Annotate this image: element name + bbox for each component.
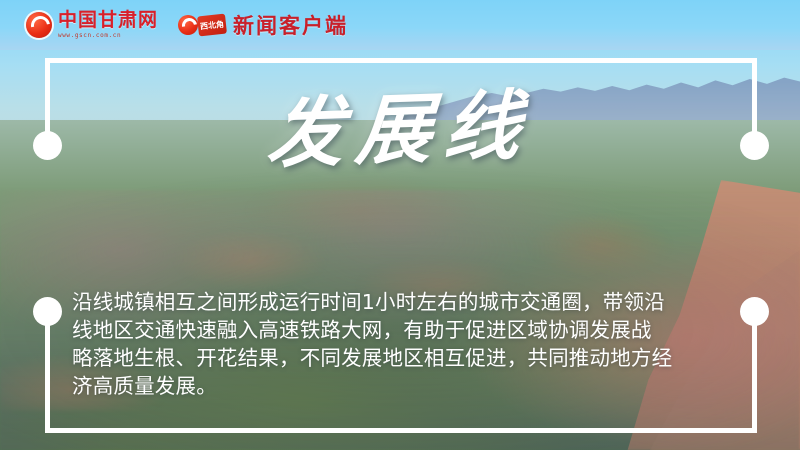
brand-gansu-net-name: 中国甘肃网 bbox=[58, 11, 158, 31]
body-line: 略落地生根、开花结果，不同发展地区相互促进，共同推动地方经 bbox=[72, 344, 732, 372]
xibeijiao-seal: 西北角 bbox=[197, 14, 227, 37]
brand-gansu-net[interactable]: 中国甘肃网 www.gscn.com.cn bbox=[26, 11, 158, 39]
body-line: 济高质量发展。 bbox=[72, 372, 732, 400]
body-line: 沿线城镇相互之间形成运行时间1小时左右的城市交通圈，带领沿 bbox=[72, 288, 732, 316]
xibeijiao-swirl-icon bbox=[178, 15, 198, 35]
news-client-name: 新闻客户端 bbox=[233, 10, 348, 40]
poster-body-text: 沿线城镇相互之间形成运行时间1小时左右的城市交通圈，带领沿 线地区交通快速融入高… bbox=[72, 288, 732, 400]
brand-gansu-net-words: 中国甘肃网 www.gscn.com.cn bbox=[58, 11, 158, 39]
brand-gansu-net-url: www.gscn.com.cn bbox=[58, 32, 158, 39]
body-line: 线地区交通快速融入高速铁路大网，有助于促进区域协调发展战 bbox=[72, 316, 732, 344]
publisher-header: 中国甘肃网 www.gscn.com.cn 西北角 新闻客户端 bbox=[0, 0, 800, 50]
news-poster: 中国甘肃网 www.gscn.com.cn 西北角 新闻客户端 发展线 沿线城镇… bbox=[0, 0, 800, 450]
gansu-net-swirl-icon bbox=[26, 12, 52, 38]
brand-news-client[interactable]: 西北角 新闻客户端 bbox=[178, 10, 348, 40]
